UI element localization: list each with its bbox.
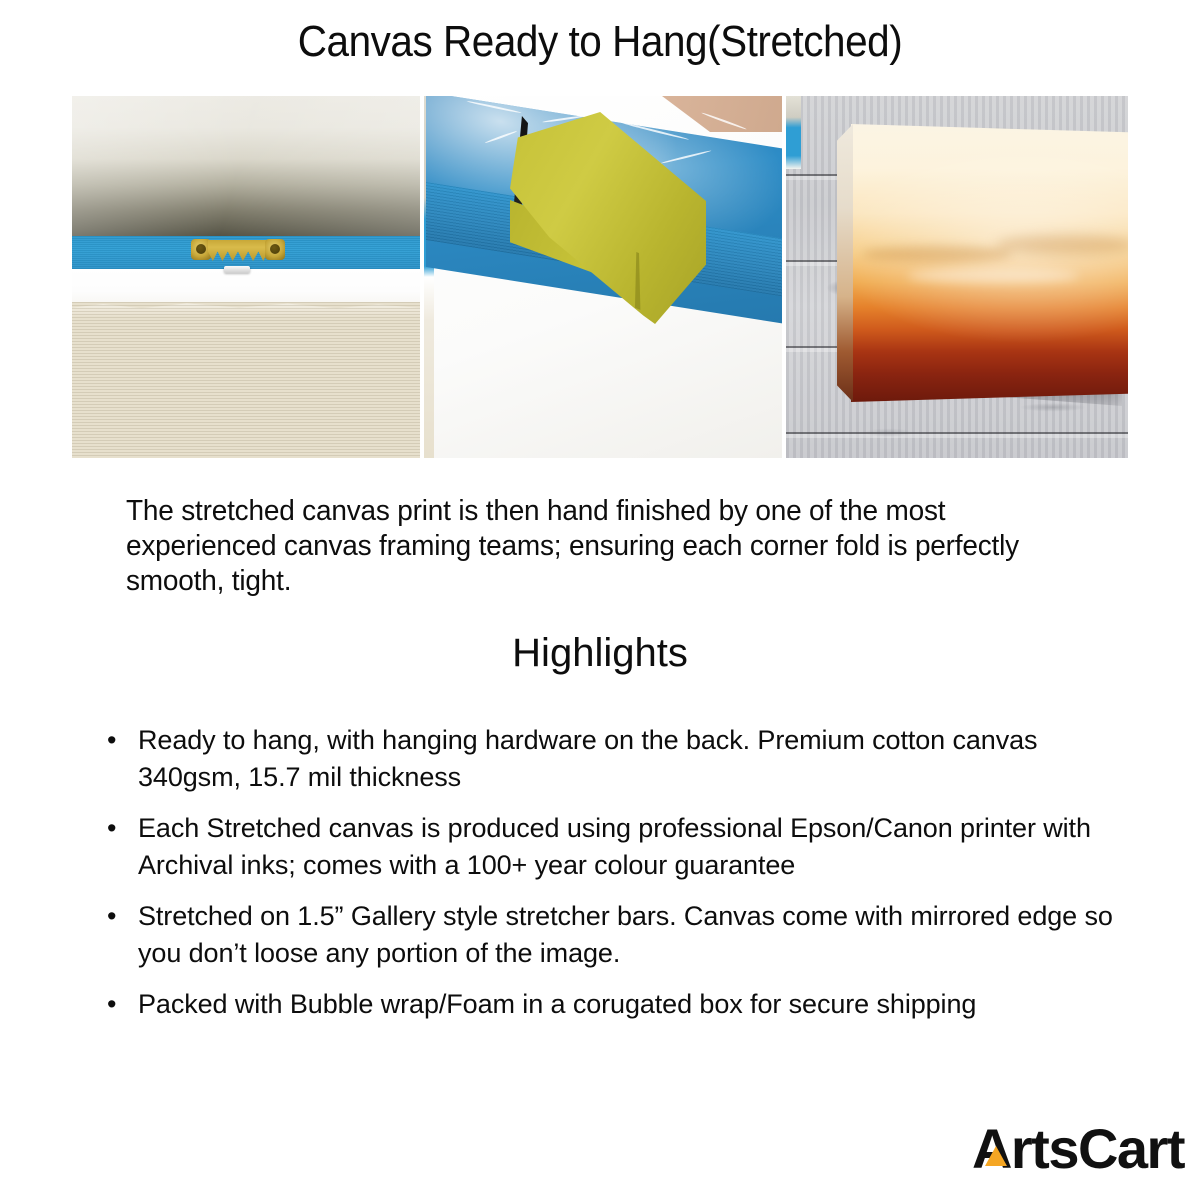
bullet-icon: • — [107, 722, 116, 759]
list-item-label: Each Stretched canvas is produced using … — [138, 813, 1091, 880]
hanger-screw-right — [265, 239, 285, 260]
panel1-white-band — [72, 269, 420, 306]
list-item-label: Packed with Bubble wrap/Foam in a coruga… — [138, 989, 976, 1019]
list-item-label: Ready to hang, with hanging hardware on … — [138, 725, 1037, 792]
panel3-canvas-wrapped-side — [837, 124, 853, 402]
lead-paragraph: The stretched canvas print is then hand … — [126, 494, 1043, 599]
panel3-hill-2 — [996, 235, 1128, 255]
sawtooth-hanger-icon — [190, 236, 286, 266]
highlights-heading: Highlights — [0, 630, 1200, 676]
panel3-haze — [907, 269, 1079, 283]
panel3-left-edge-sliver — [786, 96, 801, 169]
panel1-gradient-backdrop — [72, 96, 420, 239]
panel3-canvas — [837, 124, 1128, 402]
panel1-cotton-canvas — [72, 302, 420, 458]
panel-canvas-back-hanger — [72, 96, 420, 458]
list-item: • Packed with Bubble wrap/Foam in a coru… — [104, 986, 1124, 1023]
list-item: • Stretched on 1.5” Gallery style stretc… — [104, 898, 1124, 972]
bullet-icon: • — [107, 898, 116, 935]
list-item: • Each Stretched canvas is produced usin… — [104, 810, 1124, 884]
list-item: • Ready to hang, with hanging hardware o… — [104, 722, 1124, 796]
list-item-label: Stretched on 1.5” Gallery style stretche… — [138, 901, 1113, 968]
bullet-icon: • — [107, 810, 116, 847]
panel1-metal-tab — [224, 266, 250, 273]
page-title: Canvas Ready to Hang(Stretched) — [48, 16, 1152, 68]
brand-logo: ArtsCart — [972, 1120, 1184, 1178]
highlights-list: • Ready to hang, with hanging hardware o… — [104, 722, 1124, 1037]
logo-triangle-icon — [985, 1146, 1007, 1166]
panel-corner-fold-detail — [424, 96, 782, 458]
hanger-sawtooth-plate — [208, 240, 268, 261]
panel3-landscape-hills — [851, 124, 1128, 402]
gallery-strip — [72, 96, 1128, 458]
panel-hanging-canvas-mockup — [786, 96, 1128, 458]
bullet-icon: • — [107, 986, 116, 1023]
panel3-hill-1 — [862, 246, 1012, 262]
